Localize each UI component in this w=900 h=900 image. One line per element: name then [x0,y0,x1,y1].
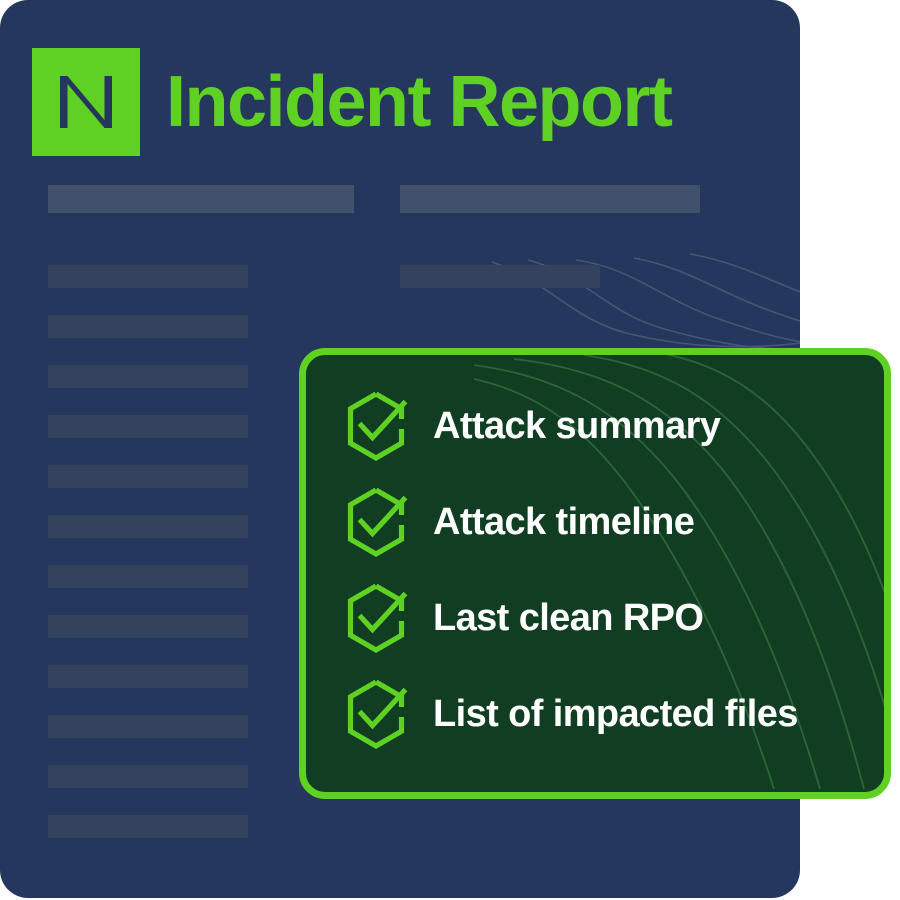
placeholder-text-bar [48,465,248,488]
placeholder-text-bar [48,315,248,338]
placeholder-text-bar [400,265,600,288]
checklist-items: Attack summary Attack timeline Last clea… [339,389,874,751]
placeholder-header-bar [48,185,354,213]
checklist-item-label: List of impacted files [433,695,798,733]
placeholder-text-bar [48,265,248,288]
placeholder-text-bar [48,665,248,688]
checklist-item-label: Attack timeline [433,503,694,541]
hexagon-check-icon [339,485,413,559]
checklist-item[interactable]: List of impacted files [339,677,874,751]
placeholder-text-bar [48,815,248,838]
placeholder-text-bar [48,415,248,438]
placeholder-text-bar [48,365,248,388]
checklist-item[interactable]: Attack summary [339,389,874,463]
report-header: Incident Report [32,48,672,156]
checklist-item-label: Last clean RPO [433,599,703,637]
illustration-canvas: Incident Report Attack summary Attack ti… [0,0,900,900]
placeholder-header-bar [400,185,700,213]
page-title: Incident Report [166,66,672,138]
placeholder-text-bar [48,565,248,588]
hexagon-check-icon [339,677,413,751]
checklist-item[interactable]: Attack timeline [339,485,874,559]
placeholder-text-bar [48,765,248,788]
n-logo-icon [32,48,140,156]
hexagon-check-icon [339,581,413,655]
checklist-item[interactable]: Last clean RPO [339,581,874,655]
hexagon-check-icon [339,389,413,463]
placeholder-text-bar [48,615,248,638]
placeholder-text-bar [48,715,248,738]
placeholder-text-bar [48,515,248,538]
checklist-item-label: Attack summary [433,407,720,445]
checklist-panel: Attack summary Attack timeline Last clea… [299,348,891,799]
